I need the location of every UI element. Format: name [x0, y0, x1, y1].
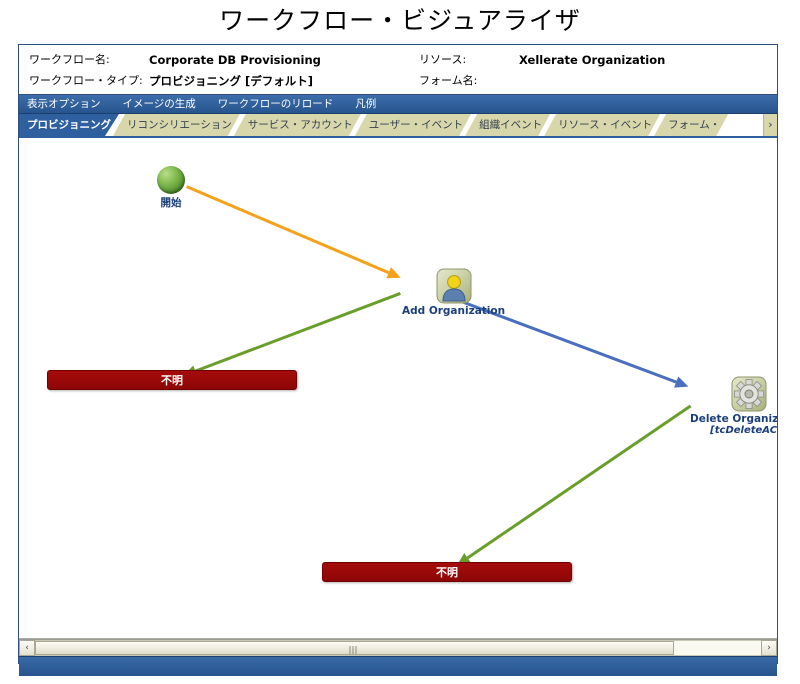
- scroll-left-arrow-icon[interactable]: ‹: [19, 640, 35, 656]
- person-task-icon[interactable]: [402, 268, 505, 304]
- scroll-right-arrow-icon[interactable]: ›: [761, 640, 777, 656]
- node-start[interactable]: 開始: [157, 166, 185, 210]
- tab-5[interactable]: リソース・イベント: [544, 114, 660, 136]
- node-sublabel-delete_org: [tcDeleteACT]: [690, 425, 777, 436]
- menu-generate-image[interactable]: イメージの生成: [123, 95, 196, 113]
- edge-delete_org-to-unknown_bottom: [457, 406, 691, 565]
- edge-add_org-to-unknown_left: [183, 293, 400, 376]
- scrollbar-thumb[interactable]: [35, 641, 674, 655]
- workflow-name-value: Corporate DB Provisioning: [149, 49, 321, 71]
- green-sphere-icon: [157, 166, 185, 194]
- status-bar-unknown_left[interactable]: 不明: [47, 370, 297, 390]
- menu-bar: 表示オプションイメージの生成ワークフローのリロード凡例: [19, 95, 777, 114]
- page-title: ワークフロー・ビジュアライザ: [0, 0, 800, 39]
- node-add_org[interactable]: Add Organization: [402, 268, 505, 317]
- status-bar-unknown_bottom[interactable]: 不明: [322, 562, 572, 582]
- node-label-start: 開始: [157, 195, 185, 210]
- tab-6[interactable]: フォーム・: [654, 114, 728, 136]
- edge-start-to-add_org: [187, 187, 401, 279]
- tab-2[interactable]: サービス・アカウント: [234, 114, 361, 136]
- resource-value: Xellerate Organization: [519, 49, 665, 71]
- tab-0[interactable]: プロビジョニング: [19, 114, 119, 136]
- workflow-name-label: ワークフロー名:: [29, 49, 110, 71]
- menu-display-options[interactable]: 表示オプション: [27, 95, 101, 113]
- workflow-info-header: ワークフロー名: Corporate DB Provisioning ワークフロ…: [19, 45, 777, 95]
- workflow-type-label: ワークフロー・タイプ:: [29, 70, 143, 92]
- tab-scroll-right-button[interactable]: ›: [763, 114, 777, 136]
- workflow-visualizer-app: ワークフロー名: Corporate DB Provisioning ワークフロ…: [18, 44, 778, 664]
- menu-legend[interactable]: 凡例: [355, 95, 376, 113]
- scrollbar-grip-icon: [350, 646, 359, 654]
- tab-4[interactable]: 組織イベント: [465, 114, 550, 136]
- workflow-type-value: プロビジョニング [デフォルト]: [149, 70, 313, 92]
- form-name-label: フォーム名:: [419, 70, 477, 92]
- tab-3[interactable]: ユーザー・イベント: [355, 114, 471, 136]
- tab-1[interactable]: リコンシリエーション: [113, 114, 240, 136]
- node-label-add_org: Add Organization: [402, 305, 505, 317]
- horizontal-scrollbar[interactable]: ‹ ›: [19, 639, 777, 656]
- gear-task-icon[interactable]: [690, 376, 777, 412]
- tab-strip: プロビジョニングリコンシリエーションサービス・アカウントユーザー・イベント組織イ…: [19, 114, 777, 138]
- green-sphere-icon[interactable]: [157, 166, 185, 194]
- menu-reload-workflow[interactable]: ワークフローのリロード: [218, 95, 334, 113]
- workflow-canvas[interactable]: 開始Add OrganizationDelete Organization[tc…: [19, 138, 777, 639]
- node-label-delete_org: Delete Organization: [690, 413, 777, 425]
- status-bar: [19, 656, 777, 676]
- scrollbar-track[interactable]: [35, 640, 761, 656]
- resource-label: リソース:: [419, 49, 466, 71]
- node-delete_org[interactable]: Delete Organization[tcDeleteACT]: [690, 376, 777, 436]
